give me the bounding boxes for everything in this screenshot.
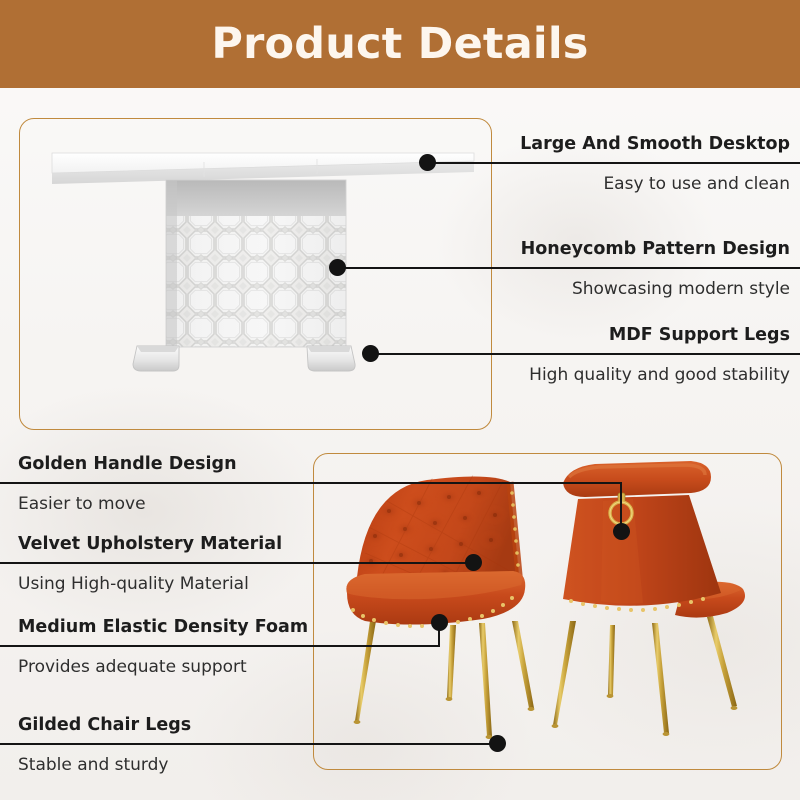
- callout-dot-handle: [613, 523, 630, 540]
- callout-sub-handle-wrap: Easier to move: [18, 488, 358, 515]
- chair-legs-gold-2: [552, 616, 738, 736]
- callout-sub-mdf-legs-wrap: High quality and good stability: [460, 359, 790, 386]
- callout-subtitle-legs: Stable and sturdy: [18, 755, 358, 776]
- callout-title-handle: Golden Handle Design: [18, 454, 358, 475]
- infographic-root: Product Details: [0, 0, 800, 800]
- callout-label-handle: Golden Handle Design: [18, 454, 358, 475]
- callout-dot-foam: [431, 614, 448, 631]
- chair-legs-gold: [354, 621, 535, 739]
- callout-subtitle-desktop: Easy to use and clean: [460, 174, 790, 195]
- callout-line-honeycomb: [337, 267, 800, 269]
- callout-subtitle-mdf-legs: High quality and good stability: [460, 365, 790, 386]
- table-pedestal: [166, 180, 346, 347]
- chair-back-view: [552, 461, 745, 736]
- callout-subtitle-foam: Provides adequate support: [18, 657, 358, 678]
- callout-dot-legs: [489, 735, 506, 752]
- callout-label-mdf-legs: MDF Support Legs: [460, 325, 790, 346]
- chair-front-tufted: [346, 475, 534, 739]
- callout-dot-honeycomb: [329, 259, 346, 276]
- callout-subtitle-honeycomb: Showcasing modern style: [460, 279, 790, 300]
- callout-line-handle: [0, 482, 622, 484]
- callout-title-honeycomb: Honeycomb Pattern Design: [460, 239, 790, 260]
- page-title: Product Details: [211, 19, 588, 69]
- callout-dot-velvet: [465, 554, 482, 571]
- callout-subtitle-handle: Easier to move: [18, 494, 358, 515]
- callout-label-foam: Medium Elastic Density Foam: [18, 617, 358, 638]
- callout-title-legs: Gilded Chair Legs: [18, 715, 358, 736]
- callout-label-velvet: Velvet Upholstery Material: [18, 534, 358, 555]
- callout-sub-desktop-wrap: Easy to use and clean: [460, 168, 790, 195]
- callout-title-mdf-legs: MDF Support Legs: [460, 325, 790, 346]
- header-banner: Product Details: [0, 0, 800, 88]
- dining-chairs-photo: [313, 453, 780, 768]
- table-top: [52, 153, 474, 184]
- callout-sub-foam-wrap: Provides adequate support: [18, 651, 358, 678]
- callout-title-foam: Medium Elastic Density Foam: [18, 617, 358, 638]
- callout-dot-desktop: [419, 154, 436, 171]
- callout-label-legs: Gilded Chair Legs: [18, 715, 358, 736]
- callout-sub-honeycomb-wrap: Showcasing modern style: [460, 273, 790, 300]
- callout-sub-velvet-wrap: Using High-quality Material: [18, 568, 358, 595]
- callout-dot-mdf-legs: [362, 345, 379, 362]
- callout-sub-legs-wrap: Stable and sturdy: [18, 749, 358, 776]
- callout-line-desktop: [427, 162, 800, 164]
- callout-line-foam: [0, 645, 440, 647]
- callout-line-legs: [0, 743, 497, 745]
- callout-title-desktop: Large And Smooth Desktop: [460, 134, 790, 155]
- callout-label-honeycomb: Honeycomb Pattern Design: [460, 239, 790, 260]
- callout-line-velvet: [0, 562, 473, 564]
- table-support-legs: [133, 346, 355, 371]
- callout-subtitle-velvet: Using High-quality Material: [18, 574, 358, 595]
- callout-label-desktop: Large And Smooth Desktop: [460, 134, 790, 155]
- callout-line-mdf-legs: [370, 353, 800, 355]
- callout-title-velvet: Velvet Upholstery Material: [18, 534, 358, 555]
